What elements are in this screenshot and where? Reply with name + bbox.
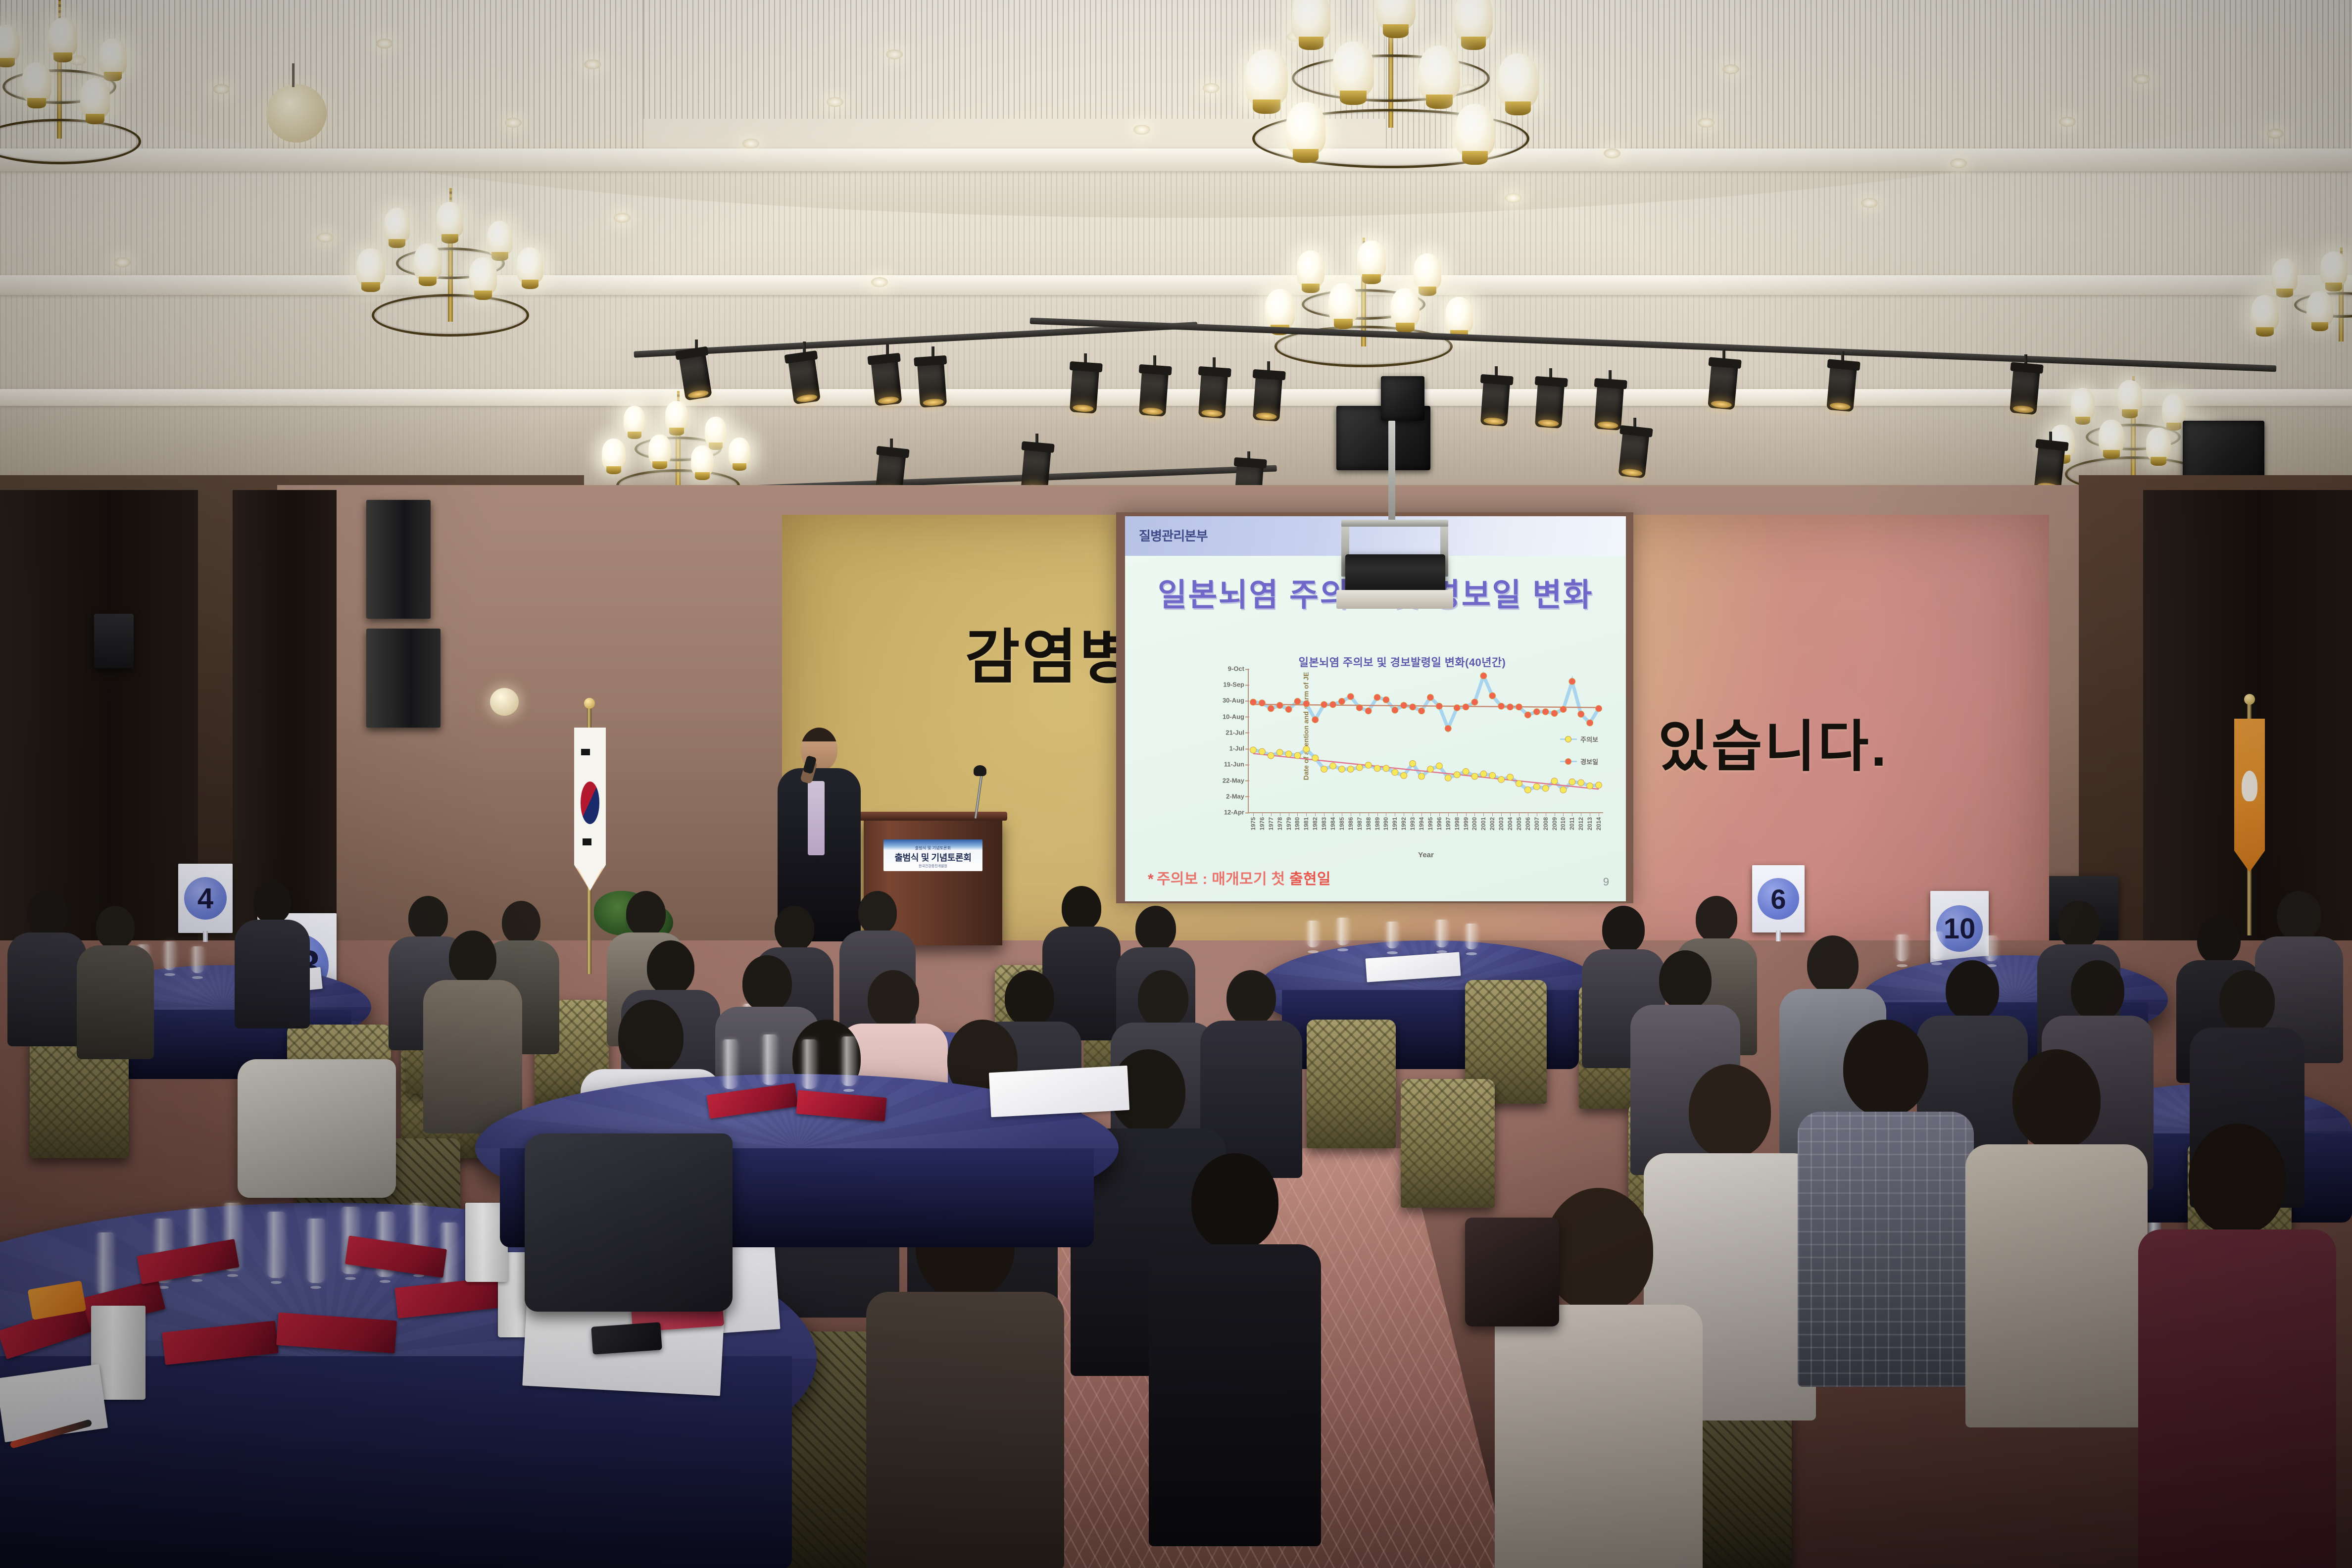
chart-x-tick: 1977	[1268, 817, 1274, 831]
chart-x-tick: 2012	[1577, 817, 1584, 831]
chart-data-point	[1516, 704, 1522, 710]
chart-data-point	[1507, 774, 1514, 781]
backdrop-text-right: 있습니다.	[1658, 702, 1889, 782]
audience-member	[79, 906, 151, 1054]
table-number-card: 4	[178, 864, 233, 933]
chart-data-point	[1365, 708, 1372, 714]
chart-data-point	[1489, 773, 1496, 779]
chart-data-point	[1533, 709, 1540, 715]
chart-data-point	[1330, 701, 1336, 708]
chart-data-point	[1312, 717, 1319, 723]
chart-x-tick: 1984	[1329, 817, 1336, 831]
banquet-chair	[1401, 1079, 1495, 1208]
audience-member	[1970, 1049, 2143, 1416]
wine-glass	[762, 1034, 777, 1085]
wine-glass	[307, 1219, 325, 1283]
chart-data-point	[1427, 766, 1434, 773]
chandelier	[0, 0, 163, 243]
chart-x-tick: 1996	[1436, 817, 1443, 831]
chart-y-tick: 1-Jul	[1229, 745, 1249, 752]
hanging-rig	[1381, 376, 1424, 421]
podium-sign-small: 출범식 및 기념토론회	[915, 845, 951, 851]
chart-data-point	[1339, 766, 1345, 773]
chart-title: 일본뇌염 주의보 및 경보발령일 변화(40년간)	[1194, 654, 1610, 670]
chart-data-point	[1401, 773, 1407, 779]
chart-data-point	[1596, 705, 1602, 712]
chart-data-point	[1276, 749, 1283, 756]
chart-x-tick: 1988	[1365, 817, 1372, 831]
chart-data-point	[1419, 708, 1425, 714]
wall-speaker	[366, 500, 431, 619]
stage-spotlight	[1253, 374, 1282, 422]
chart-data-point	[1347, 766, 1354, 773]
chart-x-tick: 2014	[1595, 817, 1602, 831]
chart-data-point	[1436, 763, 1442, 769]
chart-data-point	[1560, 706, 1567, 713]
chart-series-layer	[1249, 669, 1603, 812]
chart-x-tick: 1993	[1409, 817, 1416, 831]
chart-data-point	[1507, 704, 1514, 710]
chart-data-point	[1365, 762, 1372, 769]
chart-data-point	[1463, 704, 1469, 710]
chart-data-point	[1480, 771, 1487, 777]
chart-x-tick: 2005	[1516, 817, 1522, 831]
audience-member	[10, 891, 84, 1039]
chart-data-point	[1303, 746, 1310, 752]
chart-y-tick: 9-Oct	[1228, 665, 1249, 673]
chart-data-point	[1410, 760, 1416, 767]
wall-speaker	[366, 629, 441, 728]
chart-data-point	[1445, 775, 1451, 781]
projector-bracket	[1341, 520, 1448, 527]
chart-x-tick: 1999	[1463, 817, 1470, 831]
chart-legend-item: 주의보	[1560, 735, 1598, 744]
chart-data-point	[1463, 768, 1469, 775]
chart-y-tick: 21-Jul	[1225, 729, 1249, 736]
chart-data-point	[1427, 694, 1434, 701]
chart-data-point	[1445, 725, 1451, 732]
chart-x-tick: 2008	[1542, 817, 1549, 831]
chart-x-tick: 2013	[1586, 817, 1593, 831]
chart-data-point	[1454, 772, 1460, 778]
chart-data-point	[1285, 751, 1292, 757]
chart-data-point	[1374, 765, 1380, 772]
stage-spotlight	[917, 360, 947, 408]
chart-data-point	[1498, 777, 1505, 783]
chart-data-point	[1596, 782, 1602, 788]
chart-x-tick: 1990	[1382, 817, 1389, 831]
chart-x-tick: 1997	[1445, 817, 1452, 831]
stage-spotlight	[1618, 430, 1649, 478]
wine-glass	[802, 1039, 817, 1089]
chart-data-point	[1268, 705, 1274, 712]
chart-data-point	[1498, 703, 1505, 709]
chart-data-point	[1542, 709, 1549, 715]
chart-x-tick: 1995	[1427, 817, 1434, 831]
chandelier	[1227, 0, 1554, 208]
wine-glass	[267, 1212, 285, 1278]
draped-coat	[525, 1133, 733, 1312]
chart-data-point	[1401, 702, 1407, 709]
chandelier	[2247, 247, 2352, 406]
chart-x-tick: 1979	[1285, 817, 1292, 831]
chart-x-axis-label: Year	[1249, 851, 1603, 859]
slide-footnote: *주의보 : 매개모기 첫 출현일	[1148, 867, 1331, 888]
chart-data-point	[1392, 707, 1398, 713]
wine-glass	[723, 1039, 737, 1089]
chart-y-tick: 11-Jun	[1224, 761, 1249, 768]
chart-x-tick: 2002	[1489, 817, 1496, 831]
footnote-star: *	[1148, 871, 1154, 887]
conference-hall-photo: 감염병의 있습니다. 질병관리본부 일본뇌염 주의보 및 경보일 변화 일본뇌염…	[0, 0, 2352, 1568]
stage-spotlight	[871, 358, 902, 406]
chart-data-point	[1471, 773, 1478, 780]
stage-spotlight	[1139, 369, 1169, 417]
legend-swatch	[1560, 738, 1577, 740]
chart-data-point	[1356, 705, 1363, 711]
chandelier	[346, 188, 554, 426]
legend-label: 경보일	[1580, 757, 1598, 766]
projector-base-plate	[1336, 590, 1453, 609]
ceiling-projector	[1345, 554, 1445, 593]
pendant-globe-light	[266, 84, 327, 143]
chart-data-point	[1321, 766, 1327, 773]
chart-data-point	[1524, 787, 1531, 793]
chart-data-point	[1294, 752, 1301, 759]
chart-data-point	[1587, 720, 1593, 726]
chart-data-point	[1419, 773, 1425, 780]
chart-x-tick: 1991	[1391, 817, 1398, 831]
legend-label: 주의보	[1580, 735, 1598, 744]
chart-data-point	[1516, 781, 1522, 787]
projector-mount	[1388, 421, 1395, 525]
table-number: 4	[184, 877, 227, 920]
chart-data-point	[1578, 711, 1584, 717]
podium-sign: 출범식 및 기념토론회 출범식 및 기념토론회 한국건강증진개발원	[883, 839, 982, 871]
audience-member	[1153, 1153, 1317, 1539]
stage-spotlight	[1198, 371, 1228, 419]
chart-data-point	[1383, 765, 1389, 772]
korean-national-flag	[574, 728, 606, 891]
chart-data-point	[1551, 710, 1558, 717]
chart-x-tick: 1980	[1294, 817, 1301, 831]
chart-data-point	[1383, 696, 1389, 703]
podium-sign-main: 출범식 및 기념토론회	[894, 851, 971, 864]
chart-data-point	[1578, 780, 1584, 786]
chart-x-tick: 1976	[1259, 817, 1266, 831]
stage-spotlight	[1535, 381, 1565, 429]
chart-x-tick: 1992	[1400, 817, 1407, 831]
chart-data-point	[1250, 747, 1257, 753]
chart-x-tick: 2011	[1568, 817, 1575, 830]
chart-data-point	[1480, 673, 1487, 679]
chart-data-point	[1569, 678, 1575, 685]
banquet-chair	[1307, 1020, 1396, 1148]
stage-spotlight	[1480, 379, 1510, 427]
chart-x-tick: 1998	[1454, 817, 1461, 831]
chart-x-tick: 2004	[1507, 817, 1514, 831]
chart-x-tick: 1989	[1374, 817, 1381, 831]
stage-spotlight	[1070, 366, 1099, 414]
chart-data-point	[1276, 702, 1283, 709]
chart-data-point	[1330, 763, 1336, 769]
chart-y-tick: 19-Sep	[1223, 681, 1249, 688]
wine-glass	[97, 1232, 114, 1295]
stage-spotlight	[2009, 367, 2040, 415]
chart-data-point	[1259, 748, 1265, 755]
chart-data-point	[1410, 704, 1416, 710]
chart-data-point	[1569, 779, 1575, 785]
audience-member	[2143, 1124, 2331, 1568]
chart-data-point	[1454, 705, 1460, 711]
chart-x-tick: 1983	[1321, 817, 1327, 831]
chart-x-tick: 2000	[1471, 817, 1478, 831]
table-number-card: 6	[1752, 865, 1805, 932]
chart-data-point	[1587, 783, 1593, 789]
chart-data-point	[1268, 752, 1274, 759]
stage-spotlight	[1594, 383, 1624, 431]
chart-data-point	[1259, 700, 1265, 706]
chart-plot-area: Date of attention and alarm of JE 9-Oct1…	[1248, 669, 1603, 813]
footnote-highlight: 출현일	[1289, 871, 1331, 887]
chart-x-tick: 1978	[1276, 817, 1283, 831]
chart-data-point	[1542, 785, 1549, 791]
table-number: 10	[1936, 905, 1983, 952]
draped-coat	[238, 1059, 396, 1198]
chart-trend-line	[1253, 753, 1599, 789]
chart-x-tick: 1975	[1250, 817, 1257, 831]
audience-member	[238, 881, 307, 1020]
chart-x-tick: 2007	[1533, 817, 1540, 831]
chart-x-tick: 1987	[1356, 817, 1363, 831]
legend-swatch	[1560, 761, 1577, 762]
handout-paper	[989, 1066, 1129, 1118]
wall-monitor	[94, 614, 134, 668]
stage-spotlight	[1826, 364, 1857, 412]
chart-y-tick: 30-Aug	[1223, 697, 1249, 704]
chart-x-tick: 2010	[1560, 817, 1567, 831]
chart-data-point	[1347, 693, 1354, 700]
stage-spotlight	[1708, 362, 1738, 410]
chart-x-tick: 2003	[1498, 817, 1505, 831]
audience-member	[1802, 1020, 1970, 1376]
chart-x-tick: 1982	[1312, 817, 1319, 831]
chart-data-point	[1250, 699, 1257, 705]
chart-data-point	[1392, 769, 1398, 776]
podium-sign-sub: 한국건강증진개발원	[919, 864, 947, 869]
chart-data-point	[1524, 712, 1531, 718]
chart-data-point	[1489, 692, 1496, 699]
chart: 일본뇌염 주의보 및 경보발령일 변화(40년간) Date of attent…	[1194, 654, 1610, 867]
chart-y-tick: 22-May	[1223, 777, 1249, 784]
chart-x-tick: 2006	[1524, 817, 1531, 831]
chart-data-point	[1533, 784, 1540, 790]
chart-x-tick: 1985	[1338, 817, 1345, 831]
chart-x-tick: 1986	[1347, 817, 1354, 831]
wall-sconce	[490, 688, 519, 716]
wine-glass	[841, 1036, 856, 1086]
chart-data-point	[1312, 755, 1319, 761]
chart-y-tick: 12-Apr	[1224, 809, 1249, 816]
chart-data-point	[1374, 694, 1380, 701]
chart-x-tick: 1994	[1418, 817, 1425, 831]
microphone-icon	[974, 765, 986, 776]
chart-x-tick: 2009	[1551, 817, 1558, 831]
chart-data-point	[1339, 698, 1345, 705]
chart-legend: 주의보경보일	[1560, 735, 1598, 779]
chart-data-point	[1436, 703, 1442, 709]
chart-legend-item: 경보일	[1560, 757, 1598, 766]
chart-data-point	[1303, 701, 1310, 707]
chart-data-point	[1356, 764, 1363, 771]
chart-data-point	[1551, 778, 1558, 784]
chart-data-point	[1471, 699, 1478, 705]
chart-x-tick: 2001	[1480, 817, 1487, 831]
organization-flag	[2234, 719, 2265, 872]
table-number: 6	[1758, 878, 1799, 920]
chart-x-tick: 1981	[1303, 817, 1310, 831]
footnote-text: 주의보 : 매개모기 첫	[1157, 871, 1289, 887]
audience-member	[426, 931, 520, 1128]
chart-y-tick: 10-Aug	[1223, 713, 1249, 720]
handbag	[1465, 1218, 1559, 1326]
chart-data-point	[1294, 698, 1301, 705]
mobile-phone	[591, 1322, 662, 1355]
chart-y-tick: 2-May	[1226, 792, 1249, 800]
chart-data-point	[1285, 706, 1292, 713]
slide-page-number: 9	[1603, 876, 1609, 888]
kcdc-logo: 질병관리본부	[1139, 526, 1208, 544]
chart-data-point	[1560, 787, 1567, 793]
chart-data-point	[1321, 701, 1327, 708]
